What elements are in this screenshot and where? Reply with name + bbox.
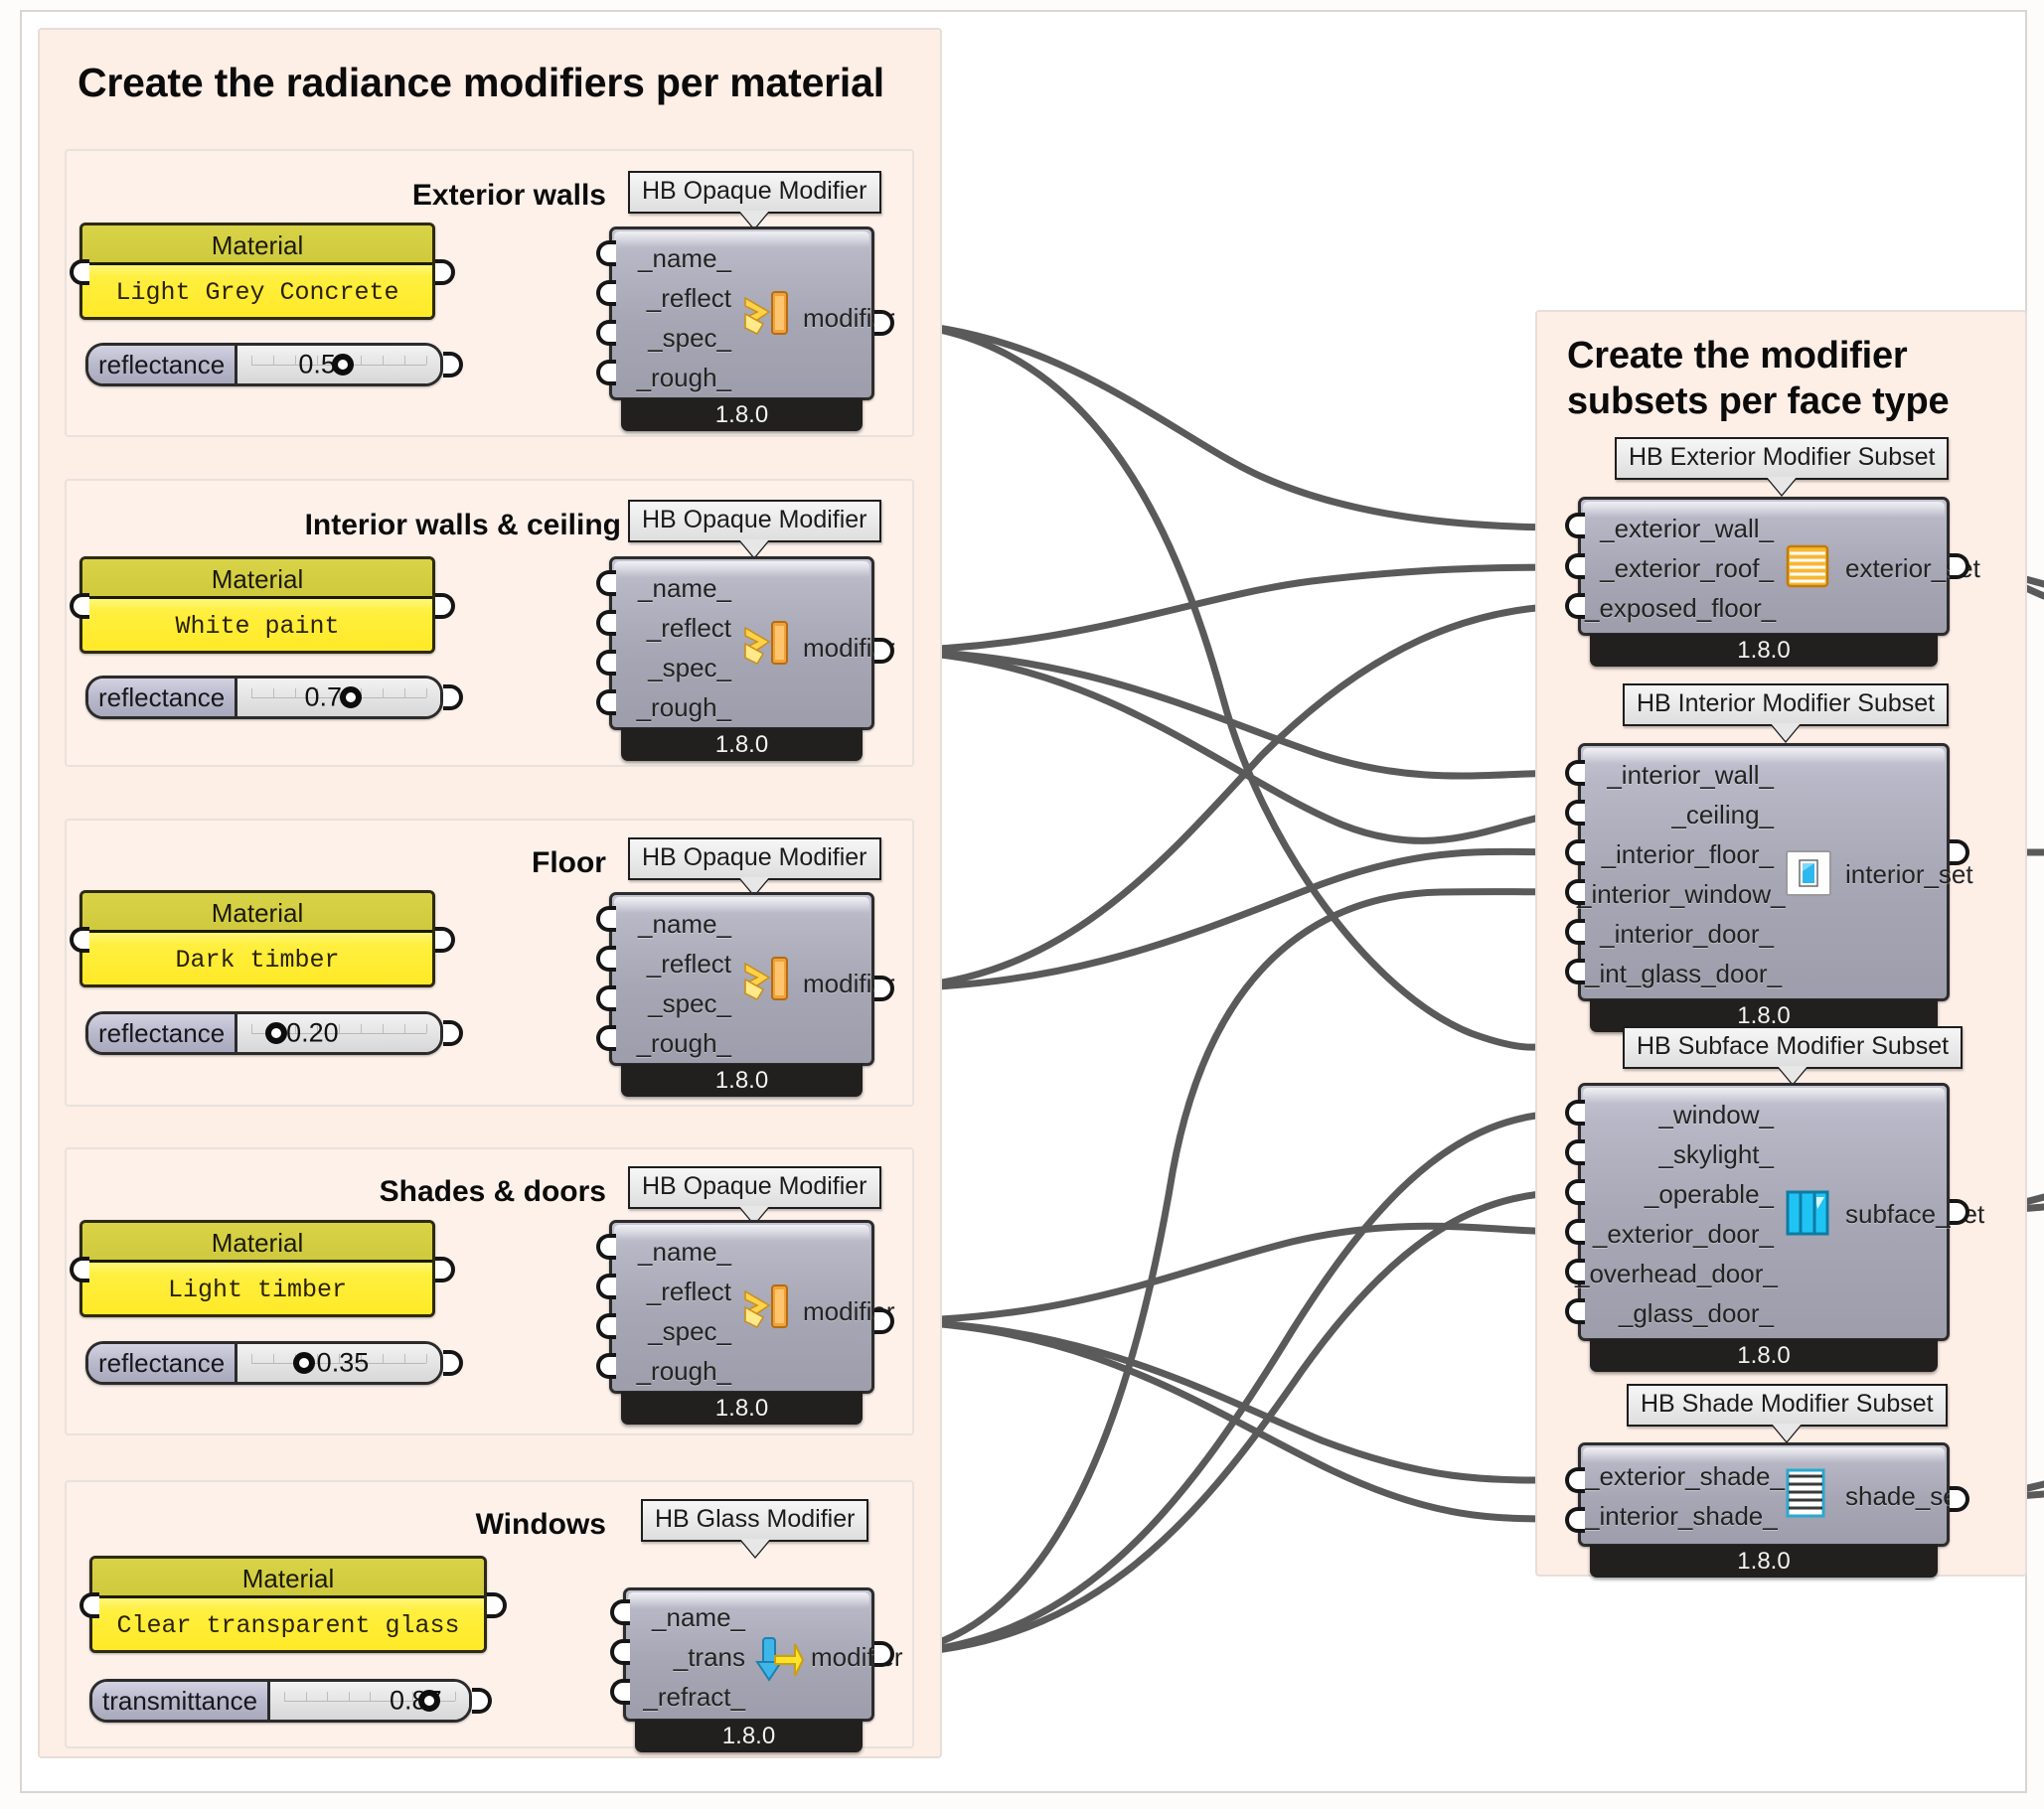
node-input-grip-trans[interactable]	[610, 1639, 630, 1665]
port-label-refract: _refract_	[628, 1682, 745, 1713]
node-input-grip-reflect[interactable]	[596, 946, 616, 972]
subset-input-grip-interior-shade[interactable]	[1565, 1507, 1585, 1533]
port-label-exterior-wall: _exterior_wall_	[1595, 514, 1774, 544]
port-label-rough: _rough_	[622, 1356, 731, 1387]
balloon-label: HB Opaque Modifier	[642, 1172, 867, 1200]
slider-label: reflectance	[88, 346, 237, 383]
section-heading-interior-walls-ceiling: Interior walls & ceiling	[179, 509, 621, 542]
reflectance-slider-interior-walls[interactable]: reflectance 0.70	[85, 676, 443, 719]
balloon-tail-icon	[740, 1539, 770, 1557]
node-input-grip-reflect[interactable]	[596, 1274, 616, 1299]
subset-input-grip-interior-floor[interactable]	[1565, 839, 1585, 865]
reflectance-slider-shades-doors[interactable]: reflectance 0.35	[85, 1341, 443, 1385]
node-version-windows: 1.8.0	[635, 1720, 863, 1752]
port-label-skylight: _skylight_	[1595, 1139, 1774, 1170]
material-panel-value[interactable]: Light Grey Concrete	[82, 265, 432, 320]
material-panel-shades-doors[interactable]: Material Light timber	[79, 1220, 435, 1317]
port-label-modifier: modifier	[803, 1296, 932, 1327]
node-balloon-interior-subset: HB Interior Modifier Subset	[1623, 683, 1949, 726]
slider-track[interactable]: 0.87	[270, 1682, 469, 1720]
node-input-grip-reflect[interactable]	[596, 280, 616, 306]
section-heading-windows: Windows	[318, 1508, 606, 1542]
port-label-interior-floor: _interior_floor_	[1591, 839, 1774, 870]
port-label-shade-set: shade_set	[1845, 1481, 2014, 1512]
slider-handle[interactable]	[293, 1352, 315, 1374]
material-panel-value[interactable]: Clear transparent glass	[92, 1598, 484, 1653]
material-panel-windows[interactable]: Material Clear transparent glass	[89, 1556, 487, 1653]
node-version-shade-subset: 1.8.0	[1590, 1545, 1938, 1578]
balloon-label: HB Interior Modifier Subset	[1637, 689, 1935, 717]
port-label-ceiling: _ceiling_	[1595, 800, 1774, 830]
node-version-exterior-subset: 1.8.0	[1590, 634, 1938, 667]
port-label-int-glass-door: _int_glass_door_	[1585, 959, 1774, 989]
node-hb-glass-modifier-windows[interactable]: _name_ _trans _refract_ modifier	[623, 1587, 874, 1722]
opaque-modifier-icon	[741, 614, 795, 670]
subset-input-grip-exterior-shade[interactable]	[1565, 1467, 1585, 1493]
port-label-spec: _spec_	[622, 323, 731, 354]
balloon-tail-icon	[1772, 1424, 1802, 1441]
subset-input-grip-interior-door[interactable]	[1565, 919, 1585, 945]
node-input-grip-spec[interactable]	[596, 320, 616, 346]
balloon-label: HB Opaque Modifier	[642, 177, 867, 205]
node-version-subface-subset: 1.8.0	[1590, 1339, 1938, 1372]
node-input-grip-name[interactable]	[596, 1234, 616, 1260]
balloon-tail-icon	[1771, 723, 1801, 741]
port-label-name: _name_	[622, 1237, 731, 1268]
material-panel-header: Material	[82, 1223, 432, 1263]
port-label-window: _window_	[1595, 1100, 1774, 1131]
port-label-exterior-set: exterior_set	[1845, 553, 2014, 584]
section-heading-exterior-walls: Exterior walls	[298, 179, 606, 213]
node-hb-opaque-modifier-floor[interactable]: _name_ _reflect _spec_ _rough_ modifier	[609, 892, 874, 1066]
node-input-grip-name[interactable]	[596, 570, 616, 596]
panel-input-grip[interactable]	[70, 259, 89, 285]
slider-handle[interactable]	[265, 1022, 287, 1044]
slider-value: 0.20	[286, 1018, 339, 1049]
material-panel-header: Material	[92, 1559, 484, 1598]
port-label-name: _name_	[622, 243, 731, 274]
port-label-glass-door: _glass_door_	[1591, 1298, 1774, 1329]
subset-input-grip-interior-wall[interactable]	[1565, 760, 1585, 786]
port-label-name: _name_	[636, 1602, 745, 1633]
port-label-exterior-roof: _exterior_roof_	[1595, 553, 1774, 584]
node-version-floor: 1.8.0	[621, 1064, 863, 1097]
port-label-name: _name_	[622, 573, 731, 604]
port-label-trans: _trans	[636, 1642, 745, 1673]
port-label-interior-window: _interior_window_	[1577, 879, 1774, 910]
section-heading-floor: Floor	[328, 846, 606, 880]
balloon-label: HB Opaque Modifier	[642, 843, 867, 871]
grasshopper-canvas: Create the radiance modifiers per materi…	[0, 0, 2044, 1809]
material-panel-header: Material	[82, 559, 432, 599]
port-label-rough: _rough_	[622, 363, 731, 393]
node-version-shades-doors: 1.8.0	[621, 1392, 863, 1425]
material-panel-header: Material	[82, 226, 432, 265]
port-label-spec: _spec_	[622, 1316, 731, 1347]
balloon-tail-icon	[739, 539, 769, 557]
port-label-modifier: modifier	[803, 303, 932, 334]
port-label-interior-door: _interior_door_	[1591, 919, 1774, 950]
subset-input-grip-exterior-roof[interactable]	[1565, 553, 1585, 579]
slider-label: transmittance	[92, 1682, 270, 1720]
opaque-modifier-icon	[741, 284, 795, 340]
subset-input-grip-window[interactable]	[1565, 1100, 1585, 1126]
slider-handle[interactable]	[418, 1690, 440, 1712]
port-label-rough: _rough_	[622, 692, 731, 723]
node-input-grip-reflect[interactable]	[596, 610, 616, 636]
port-label-reflect: _reflect	[622, 283, 731, 314]
port-label-overhead-door: _overhead_door_	[1575, 1259, 1774, 1289]
subface-subset-icon	[1785, 1189, 1830, 1237]
slider-track[interactable]: 0.35	[237, 1344, 440, 1382]
port-label-modifier: modifier	[803, 969, 932, 999]
subset-input-grip-skylight[interactable]	[1565, 1139, 1585, 1165]
subset-input-grip-exposed-floor[interactable]	[1565, 593, 1585, 619]
node-version-exterior-walls: 1.8.0	[621, 398, 863, 431]
port-label-interior-set: interior_set	[1845, 859, 2014, 890]
balloon-label: HB Shade Modifier Subset	[1641, 1390, 1934, 1418]
glass-modifier-icon	[751, 1636, 805, 1688]
reflectance-slider-floor[interactable]: reflectance 0.20	[85, 1011, 443, 1055]
port-label-interior-wall: _interior_wall_	[1595, 760, 1774, 791]
subset-input-grip-exterior-wall[interactable]	[1565, 513, 1585, 538]
balloon-tail-icon	[1767, 477, 1797, 495]
port-label-name: _name_	[622, 909, 731, 940]
port-label-reflect: _reflect	[622, 1277, 731, 1307]
material-panel-value[interactable]: Light timber	[82, 1263, 432, 1317]
port-label-reflect: _reflect	[622, 613, 731, 644]
opaque-modifier-icon	[741, 1278, 795, 1333]
node-input-grip-rough[interactable]	[596, 1353, 616, 1379]
port-label-exterior-shade: _exterior_shade_	[1585, 1461, 1774, 1492]
transmittance-slider-windows[interactable]: transmittance 0.87	[89, 1679, 472, 1723]
slider-track[interactable]: 0.50	[237, 346, 440, 383]
subset-input-grip-ceiling[interactable]	[1565, 800, 1585, 826]
node-input-grip-spec[interactable]	[596, 1313, 616, 1339]
node-hb-shade-modifier-subset[interactable]: _exterior_shade_ _interior_shade_ shade_…	[1578, 1442, 1950, 1547]
node-balloon-exterior-subset: HB Exterior Modifier Subset	[1615, 437, 1949, 480]
node-input-grip-name[interactable]	[610, 1599, 630, 1625]
port-label-spec: _spec_	[622, 653, 731, 683]
node-hb-subface-modifier-subset[interactable]: _window_ _skylight_ _operable_ _exterior…	[1578, 1083, 1950, 1341]
subset-input-grip-overhead-door[interactable]	[1565, 1259, 1585, 1284]
balloon-label: HB Exterior Modifier Subset	[1629, 443, 1935, 471]
shade-subset-icon	[1785, 1467, 1826, 1519]
section-heading-shades-doors: Shades & doors	[248, 1175, 606, 1209]
balloon-label: HB Glass Modifier	[655, 1505, 855, 1533]
panel-input-grip[interactable]	[70, 927, 89, 953]
node-input-grip-name[interactable]	[596, 240, 616, 266]
port-label-rough: _rough_	[622, 1028, 731, 1059]
node-input-grip-name[interactable]	[596, 906, 616, 932]
balloon-label: HB Subface Modifier Subset	[1637, 1032, 1949, 1060]
slider-track[interactable]: 0.20	[237, 1014, 440, 1052]
material-panel-value[interactable]: White paint	[82, 599, 432, 654]
exterior-subset-icon	[1785, 543, 1830, 589]
node-balloon-windows: HB Glass Modifier	[641, 1499, 868, 1542]
node-input-grip-rough[interactable]	[596, 1025, 616, 1051]
material-panel-floor[interactable]: Material Dark timber	[79, 890, 435, 987]
group-title-left: Create the radiance modifiers per materi…	[78, 60, 884, 106]
node-input-grip-rough[interactable]	[596, 360, 616, 385]
material-panel-value[interactable]: Dark timber	[82, 933, 432, 987]
opaque-modifier-icon	[741, 950, 795, 1005]
slider-handle[interactable]	[340, 686, 362, 708]
reflectance-slider-exterior-walls[interactable]: reflectance 0.50	[85, 343, 443, 386]
panel-input-grip[interactable]	[79, 1592, 99, 1618]
node-hb-opaque-modifier-exterior-walls[interactable]: _name_ _reflect _spec_ _rough_ modifier	[609, 226, 874, 400]
port-label-operable: _operable_	[1595, 1179, 1774, 1210]
panel-input-grip[interactable]	[70, 593, 89, 619]
group-title-right: Create the modifier subsets per face typ…	[1567, 333, 1949, 424]
node-input-grip-refract[interactable]	[610, 1679, 630, 1705]
slider-handle[interactable]	[332, 354, 354, 376]
balloon-label: HB Opaque Modifier	[642, 506, 867, 533]
node-version-interior-walls: 1.8.0	[621, 728, 863, 761]
node-input-grip-spec[interactable]	[596, 650, 616, 676]
slider-value: 0.35	[317, 1348, 370, 1379]
material-panel-header: Material	[82, 893, 432, 933]
material-panel-exterior-walls[interactable]: Material Light Grey Concrete	[79, 223, 435, 320]
node-balloon-exterior-walls: HB Opaque Modifier	[628, 171, 881, 214]
node-hb-opaque-modifier-interior-walls[interactable]: _name_ _reflect _spec_ _rough_ modifier	[609, 556, 874, 730]
slider-track[interactable]: 0.70	[237, 678, 440, 716]
node-balloon-floor: HB Opaque Modifier	[628, 837, 881, 880]
port-label-spec: _spec_	[622, 988, 731, 1019]
node-balloon-interior-walls: HB Opaque Modifier	[628, 500, 881, 542]
port-label-interior-shade: _interior_shade_	[1585, 1501, 1774, 1532]
port-label-exterior-door: _exterior_door_	[1585, 1219, 1774, 1250]
node-hb-exterior-modifier-subset[interactable]: _exterior_wall_ _exterior_roof_ _exposed…	[1578, 497, 1950, 636]
node-balloon-subface-subset: HB Subface Modifier Subset	[1623, 1026, 1963, 1069]
node-balloon-shades-doors: HB Opaque Modifier	[628, 1166, 881, 1209]
subset-input-grip-operable[interactable]	[1565, 1179, 1585, 1205]
subset-input-grip-glass-door[interactable]	[1565, 1298, 1585, 1324]
subset-input-grip-interior-window[interactable]	[1565, 879, 1585, 905]
port-label-exposed-floor: _exposed_floor_	[1585, 593, 1774, 624]
balloon-tail-icon	[1778, 1066, 1808, 1084]
node-balloon-shade-subset: HB Shade Modifier Subset	[1627, 1384, 1948, 1427]
node-input-grip-rough[interactable]	[596, 689, 616, 715]
port-label-modifier: modifier	[803, 633, 932, 664]
port-label-subface-set: subface_set	[1845, 1199, 2014, 1230]
interior-subset-icon	[1785, 849, 1832, 897]
material-panel-interior-walls[interactable]: Material White paint	[79, 556, 435, 654]
node-hb-interior-modifier-subset[interactable]: _interior_wall_ _ceiling_ _interior_floo…	[1578, 743, 1950, 1001]
subset-input-grip-exterior-door[interactable]	[1565, 1219, 1585, 1245]
slider-label: reflectance	[88, 1344, 237, 1382]
node-hb-opaque-modifier-shades-doors[interactable]: _name_ _reflect _spec_ _rough_ modifier	[609, 1220, 874, 1394]
subset-input-grip-int-glass-door[interactable]	[1565, 959, 1585, 984]
node-input-grip-spec[interactable]	[596, 985, 616, 1011]
port-label-reflect: _reflect	[622, 949, 731, 980]
panel-input-grip[interactable]	[70, 1257, 89, 1282]
slider-label: reflectance	[88, 678, 237, 716]
slider-label: reflectance	[88, 1014, 237, 1052]
